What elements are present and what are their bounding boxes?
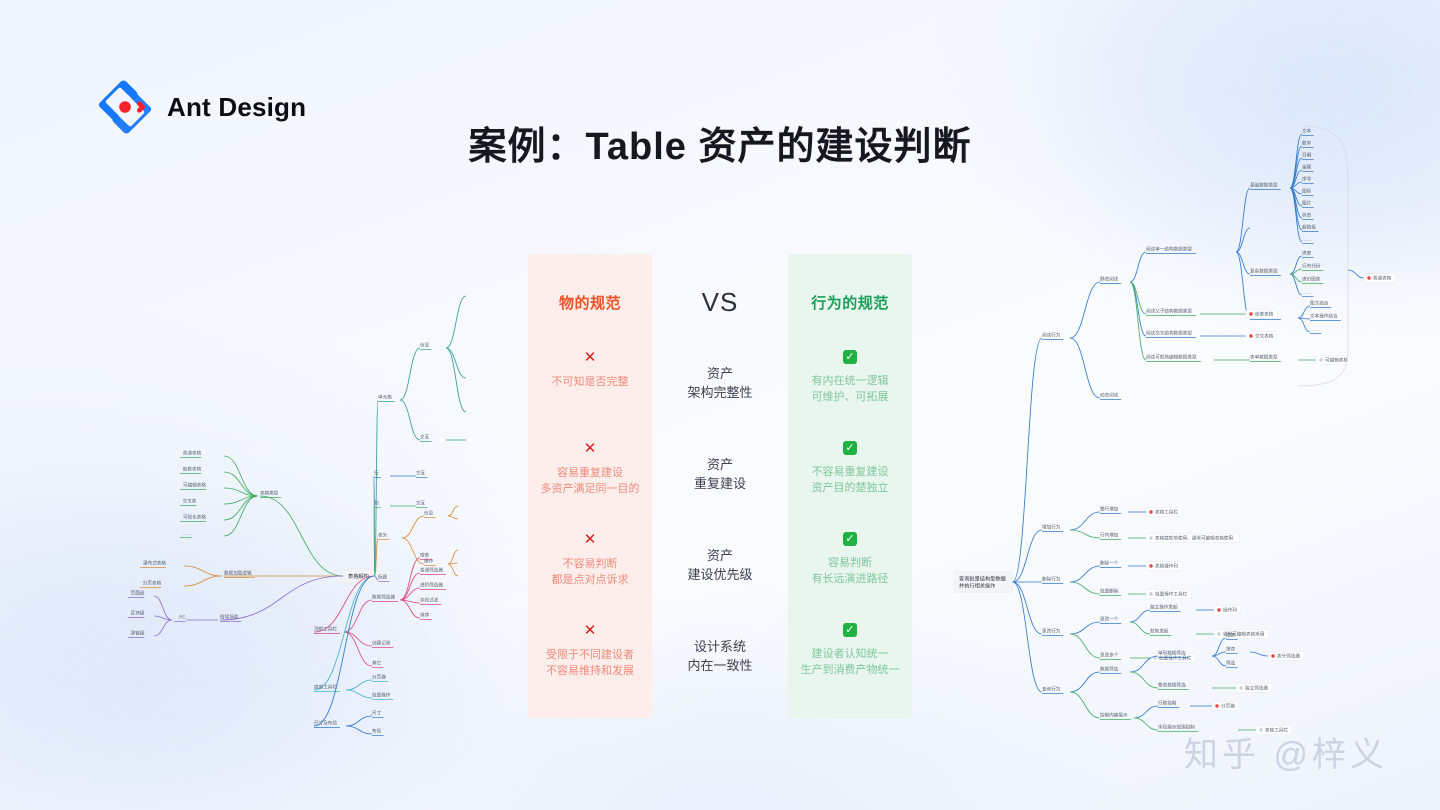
mindmap-link — [1130, 622, 1150, 634]
middle-row-text: 内在一致性 — [687, 656, 752, 675]
good-row-text: 可维护、可拓展 — [812, 389, 889, 405]
mindmap-link — [1070, 282, 1100, 338]
good-row-text: 有内在统一逻辑 — [812, 373, 889, 389]
mindmap-node-label: 文本 — [1302, 127, 1312, 134]
mindmap-link — [1130, 282, 1146, 336]
mindmap-node-label: 交互 — [416, 469, 426, 476]
mindmap-node-label: 批量删除 — [1100, 587, 1119, 594]
mindmap-root-node: 表格解构 — [343, 569, 375, 583]
comparison-panel: 物的规范 ✕不可知是否完整✕容易重复建设多资产满足同一目的✕不容易判断都是点对点… — [528, 254, 912, 718]
mindmap-node-label: 分页器 — [372, 673, 386, 680]
mindmap-node-label: 信息 — [424, 509, 434, 516]
slide-root: Ant Design 案例：Table 资产的建设判断 物的规范 ✕不可知是否完… — [0, 0, 1440, 810]
middle-rows: 资产架构完整性资产重复建设资产建设优先级设计系统内在一致性 — [652, 350, 788, 714]
mindmap-chip-label: 分页器 — [1221, 703, 1235, 710]
mindmap-link — [402, 538, 424, 564]
mindmap-node-label: 顶部工具栏 — [314, 625, 337, 632]
mindmap-node-label: 静态阅读 — [1100, 275, 1119, 282]
mindmap-link — [1070, 530, 1100, 538]
mindmap-node-label: 创建记录 — [372, 639, 391, 646]
mindmap-node-label: 尺寸 — [372, 709, 382, 716]
mindmap-link — [446, 348, 466, 412]
mindmap-node-label: 数字 — [1302, 139, 1312, 146]
mindmap-node-label: 复杂数据类型 — [1250, 267, 1278, 274]
mindmap-node-label: 阅读可就地编辑数据类型 — [1146, 353, 1197, 360]
mindmap-node-label: 整表数据筛选 — [1158, 681, 1186, 688]
cross-mark-icon: ✕ — [584, 532, 597, 547]
bad-column-header: 物的规范 — [528, 254, 652, 350]
mindmap-root-label: 表格解构 — [348, 572, 369, 580]
mindmap-node-label: 图标 — [1302, 187, 1312, 194]
mindmap-node-label: 进度 — [1302, 249, 1312, 256]
good-row: ✓容易判断有长远演进路径 — [788, 532, 912, 623]
mindmap-link — [1134, 718, 1158, 730]
mindmap-chip: 独立筛选器 — [1236, 684, 1272, 692]
mindmap-link — [220, 576, 343, 620]
mindmap-node-label: 页面级 — [131, 589, 145, 596]
mindmap-node-label: 更改行为 — [1042, 627, 1061, 634]
mindmap-link — [1130, 282, 1146, 360]
middle-row-text: 设计系统 — [694, 637, 746, 656]
middle-column: VS 资产架构完整性资产重复建设资产建设优先级设计系统内在一致性 — [652, 254, 788, 718]
mindmap-link — [1070, 582, 1100, 594]
mindmap-chip-label: 表格工具栏 — [1155, 509, 1178, 516]
mindmap-node-label: …… — [1302, 236, 1311, 241]
mindmap-link — [1070, 512, 1100, 530]
mindmap-node-label: 删除行为 — [1042, 575, 1061, 582]
good-row: ✓不容易重复建设资产目的楚独立 — [788, 441, 912, 532]
mindmap-node-label: 交叉表 — [183, 497, 197, 504]
mindmap-chip: 通常可编辑表格采用 — [1214, 630, 1269, 638]
mindmap-link — [346, 680, 372, 690]
mindmap-node-label: 删除一个 — [1100, 559, 1119, 566]
mindmap-link — [446, 348, 466, 378]
mindmap-link — [1013, 582, 1042, 692]
mindmap-link — [314, 576, 375, 726]
mindmap-node-label: 其它 — [372, 659, 382, 666]
good-row-text: 建设者认知统一 — [812, 646, 889, 662]
bad-row-text: 不容易维持和发展 — [546, 663, 634, 679]
mindmap-node-label: 可编辑表格 — [183, 481, 206, 488]
mindmap-node-label: 整行增加 — [1100, 505, 1119, 512]
page-title: 案例：Table 资产的建设判断 — [0, 115, 1440, 170]
mindmap-node-label: 数据筛选 — [1100, 665, 1119, 672]
mindmap-link — [344, 632, 372, 666]
mindmap-node-label: 表单数据类型 — [1250, 353, 1278, 360]
bad-rows: ✕不可知是否完整✕容易重复建设多资产满足同一目的✕不容易判断都是点对点诉求✕受限… — [528, 350, 652, 714]
bad-row-text: 不可知是否完整 — [552, 374, 629, 390]
mindmap-chip-label: 表格操作列 — [1155, 563, 1178, 570]
good-row-text: 生产到消费产物统一 — [801, 662, 900, 678]
cross-mark-icon: ✕ — [584, 623, 597, 638]
mindmap-node-label: 单列数据筛选 — [1158, 649, 1186, 656]
middle-row: 资产架构完整性 — [652, 350, 788, 441]
mindmap-link — [1130, 672, 1158, 688]
mindmap-link — [400, 400, 420, 440]
mindmap-chip: 分页器 — [1212, 702, 1238, 710]
mindmap-node-label: 普通表格 — [183, 449, 202, 456]
mindmap-node-label: 底部工具栏 — [314, 683, 337, 690]
mindmap-node-label: 进阶筛选器 — [420, 581, 443, 588]
mindmap-node-label: 基础数据类型 — [1250, 181, 1278, 188]
mindmap-node-label: 嵌套表格 — [183, 465, 202, 472]
mindmap-link — [346, 716, 372, 726]
mindmap-link — [400, 348, 420, 400]
mindmap-node-label: 阅读父子结构数据类型 — [1146, 307, 1192, 314]
mindmap-link — [1134, 706, 1158, 718]
mindmap-node-label: 阅读行为 — [1042, 331, 1061, 338]
bad-row-text: 不容易判断 — [563, 556, 618, 572]
middle-row-text: 资产 — [707, 455, 733, 474]
bad-row-text: 受限于不同建设者 — [546, 647, 634, 663]
mindmap-node-label: 图文结合 — [1310, 299, 1329, 306]
good-row-text: 资产目的楚独立 — [812, 480, 889, 496]
mindmap-link — [184, 566, 222, 576]
mindmap-chip-label: 批量操作工具栏 — [1155, 591, 1188, 598]
mindmap-chip: 表格底就地使用、通常可编辑表格使用 — [1146, 534, 1240, 542]
mindmap-node-label: 数据加载逻辑 — [224, 569, 252, 576]
mindmap-node-label: 弹窗级 — [131, 629, 145, 636]
mindmap-node-label: 序号 — [1302, 175, 1312, 182]
mindmap-node-label: 操作 — [424, 557, 434, 564]
bad-row-text: 容易重复建设 — [557, 465, 623, 481]
mindmap-chip: 批量操作工具栏 — [1146, 590, 1192, 598]
mindmap-link — [184, 576, 222, 586]
right-mindmap: 查询批量结构型数据并执行相关操作阅读行为增加行为删除行为更改行为查询行为静态阅读… — [950, 230, 1350, 750]
mindmap-node-label: 列 — [374, 499, 379, 506]
mindmap-node-label: 标题 — [378, 573, 388, 580]
mindmap-node-label: 更改一个 — [1100, 615, 1119, 622]
mindmap-link — [1212, 638, 1226, 656]
cross-mark-icon: ✕ — [584, 441, 597, 456]
mindmap-node-label: 独立操作发起 — [1150, 603, 1178, 610]
mindmap-node-label: 可视化表格 — [183, 513, 206, 520]
mindmap-node-label: 数据筛选器 — [372, 593, 395, 600]
mindmap-chip-label: 操作列 — [1223, 607, 1237, 614]
left-mindmap: 表格解构单元格信息交互行交互列交互表头信息操作标题顶部工具栏数据筛选器创建记录其… — [128, 228, 458, 738]
mindmap-link — [1070, 672, 1100, 692]
check-mark-icon: ✓ — [843, 623, 857, 637]
mindmap-root-label: 并执行相关操作 — [959, 582, 995, 590]
mindmap-chip-label: 表头筛选器 — [1277, 653, 1300, 660]
good-row-text: 有长远演进路径 — [812, 571, 889, 587]
bad-row: ✕不容易判断都是点对点诉求 — [528, 532, 652, 623]
mindmap-node-label: 状态 — [1302, 211, 1312, 217]
mindmap-node-label: 瀑布式表格 — [143, 559, 166, 566]
mindmap-chip-label: 交叉表格 — [1255, 333, 1274, 340]
mindmap-node-label: 交互 — [416, 499, 426, 506]
mindmap-node-label: 金额 — [1302, 163, 1312, 170]
check-mark-icon: ✓ — [843, 350, 857, 364]
mindmap-node-label: 筛选 — [1226, 659, 1236, 666]
good-row: ✓有内在统一逻辑可维护、可拓展 — [788, 350, 912, 441]
mindmap-node-label: PC — [179, 614, 186, 619]
mindmap-link — [154, 620, 172, 636]
mindmap-node-label: 交互 — [420, 433, 430, 440]
middle-row-text: 重复建设 — [694, 474, 746, 493]
mindmap-node-label: 图片 — [1302, 199, 1312, 206]
good-column-header: 行为的规范 — [788, 254, 912, 350]
mindmap-node-label: …… — [182, 530, 191, 535]
mindmap-chip: 嵌套表格 — [1246, 310, 1277, 318]
mindmap-chip-label: 表格底就地使用、通常可编辑表格使用 — [1155, 535, 1234, 542]
mindmap-link — [446, 296, 466, 348]
mindmap-node-label: 普通筛选器 — [420, 566, 443, 573]
mindmap-node-label: 行内代码 — [1302, 262, 1321, 269]
middle-row-text: 资产 — [707, 546, 733, 565]
good-row-text: 不容易重复建设 — [812, 464, 889, 480]
good-rows: ✓有内在统一逻辑可维护、可拓展✓不容易重复建设资产目的楚独立✓容易判断有长远演进… — [788, 350, 912, 714]
mindmap-node-label: 布局 — [372, 727, 382, 734]
good-column: 行为的规范 ✓有内在统一逻辑可维护、可拓展✓不容易重复建设资产目的楚独立✓容易判… — [788, 254, 912, 718]
mindmap-node-label: 行数控制 — [1158, 699, 1177, 706]
mindmap-node-label: 区块级 — [131, 609, 145, 616]
mindmap-chip: 表头筛选器 — [1268, 652, 1304, 660]
good-row: ✓建设者认知统一生产到消费产物统一 — [788, 623, 912, 714]
mindmap-root-node: 查询批量结构型数据并执行相关操作 — [954, 572, 1013, 593]
mindmap-node-label: 表格类型 — [260, 489, 279, 496]
mindmap-node-label: 分页表格 — [143, 579, 162, 586]
mindmap-chip-label: 普通表格 — [1373, 275, 1392, 282]
mindmap-link — [1236, 188, 1250, 252]
mindmap-node-label: 信息 — [420, 341, 430, 348]
mindmap-link — [402, 516, 424, 538]
mindmap-link — [1290, 274, 1302, 295]
mindmap-root-label: 查询批量结构型数据 — [959, 575, 1006, 583]
mindmap-link — [1298, 306, 1310, 318]
mindmap-chip: 操作列 — [1214, 606, 1240, 614]
mindmap-node-label: 搜索 — [420, 551, 430, 558]
mindmap-link — [224, 456, 258, 496]
mindmap-node-label: 进价图表 — [1302, 275, 1321, 282]
mindmap-link — [346, 726, 372, 734]
mindmap-link — [1013, 582, 1042, 634]
bad-column: 物的规范 ✕不可知是否完整✕容易重复建设多资产满足同一目的✕不容易判断都是点对点… — [528, 254, 652, 718]
mindmap-node-label: 动态阅读 — [1100, 391, 1119, 398]
mindmap-link — [1212, 656, 1226, 666]
mindmap-link — [1290, 188, 1302, 230]
mindmap-link — [154, 616, 172, 620]
mindmap-link — [314, 576, 375, 632]
bad-row: ✕不可知是否完整 — [528, 350, 652, 441]
mindmap-node-label: 超链接 — [1302, 223, 1316, 230]
mindmap-node-label: 排序 — [1226, 645, 1236, 652]
mindmap-node-label: 行内增加 — [1100, 531, 1119, 538]
mindmap-link — [1070, 622, 1100, 634]
bad-row: ✕受限于不同建设者不容易维持和发展 — [528, 623, 652, 714]
mindmap-node-label: …… — [1310, 326, 1319, 331]
vs-label: VS — [652, 254, 788, 350]
mindmap-node-label: 搜索 — [1226, 631, 1236, 638]
mindmap-chip-label: 批量操作工具栏 — [1159, 655, 1192, 662]
cross-mark-icon: ✕ — [584, 350, 597, 365]
mindmap-link — [260, 496, 343, 576]
middle-row-text: 资产 — [707, 364, 733, 383]
mindmap-node-label: 排序 — [420, 611, 430, 618]
middle-row: 设计系统内在一致性 — [652, 623, 788, 714]
mindmap-node-label: 字段过滤 — [420, 596, 439, 603]
mindmap-link — [1070, 634, 1100, 658]
mindmap-node-label: 就地发起 — [1150, 627, 1169, 634]
middle-row: 资产建设优先级 — [652, 532, 788, 623]
mindmap-node-label: 批量操作 — [372, 691, 391, 698]
middle-row-text: 建设优先级 — [687, 565, 752, 584]
mindmap-link — [1250, 652, 1268, 656]
mindmap-node-label: 单元格 — [378, 393, 392, 400]
mindmap-chip: 普通表格 — [1364, 274, 1395, 282]
mindmap-chip: 表格工具栏 — [1146, 508, 1182, 516]
mindmap-node-label: 控制内容展示 — [1100, 711, 1128, 718]
mindmap-chip-label: 嵌套表格 — [1255, 311, 1274, 318]
mindmap-link — [448, 564, 458, 576]
mindmap-node-label: 情境场景 — [220, 613, 239, 620]
middle-row: 资产重复建设 — [652, 441, 788, 532]
mindmap-node-label: 更改多个 — [1100, 651, 1119, 658]
mindmap-link — [1013, 338, 1042, 582]
mindmap-node-label: 查询行为 — [1042, 685, 1061, 692]
mindmap-link — [346, 690, 372, 698]
mindmap-link — [224, 496, 258, 536]
mindmap-link — [1130, 610, 1150, 622]
mindmap-link — [314, 576, 375, 690]
mindmap-chip: 表格操作列 — [1146, 562, 1182, 570]
mindmap-link — [1070, 338, 1100, 398]
mindmap-link — [344, 600, 372, 632]
mindmap-node-label: 阅读交叉结构数据类型 — [1146, 329, 1192, 336]
mindmap-node-label: 行 — [374, 469, 379, 476]
good-row-text: 容易判断 — [828, 555, 872, 571]
watermark: 知乎 @梓义 — [1184, 727, 1388, 776]
mindmap-link — [1348, 270, 1364, 278]
mindmap-link — [1070, 566, 1100, 582]
left-mindmap-canvas: 表格解构单元格信息交互行交互列交互表头信息操作标题顶部工具栏数据筛选器创建记录其… — [128, 228, 458, 738]
check-mark-icon: ✓ — [843, 441, 857, 455]
right-mindmap-canvas: 查询批量结构型数据并执行相关操作阅读行为增加行为删除行为更改行为查询行为静态阅读… — [950, 230, 1350, 750]
bad-row-text: 多资产满足同一目的 — [541, 481, 640, 497]
mindmap-chip-label: 独立筛选器 — [1245, 685, 1268, 692]
mindmap-link — [1212, 652, 1226, 656]
check-mark-icon: ✓ — [843, 532, 857, 546]
mindmap-link — [400, 573, 420, 600]
bad-row-text: 都是点对点诉求 — [552, 572, 629, 588]
mindmap-chip-label: 可编辑表格 — [1325, 357, 1348, 364]
mindmap-node-label: …… — [1302, 289, 1311, 294]
mindmap-node-label: 表头 — [378, 531, 388, 538]
mindmap-node-label: 尺寸及布局 — [314, 719, 337, 726]
mindmap-node-label: 增加行为 — [1042, 523, 1061, 530]
mindmap-chip: 交叉表格 — [1246, 332, 1277, 340]
mindmap-link — [448, 516, 458, 519]
mindmap-node-label: 阅读单一结构数据类型 — [1146, 245, 1192, 252]
mindmap-node-label: 文本操作结合 — [1310, 312, 1338, 319]
bad-row: ✕容易重复建设多资产满足同一目的 — [528, 441, 652, 532]
middle-row-text: 架构完整性 — [687, 383, 752, 402]
mindmap-link — [1130, 252, 1146, 282]
mindmap-link — [448, 506, 458, 516]
mindmap-link — [448, 550, 458, 564]
mindmap-link — [1070, 692, 1100, 718]
mindmap-link — [1298, 318, 1310, 332]
